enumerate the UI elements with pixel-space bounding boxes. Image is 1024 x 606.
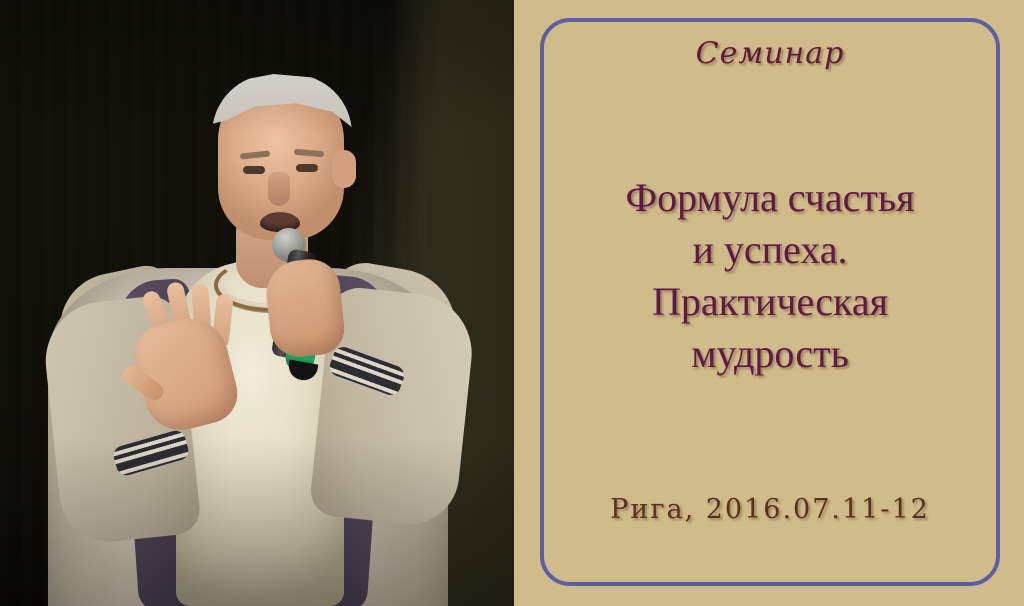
- headline-line-1: Формула счастья: [540, 172, 1000, 224]
- headline-line-2: и успеха.: [540, 224, 1000, 276]
- seminar-poster: Семинар Формула счастья и успеха. Практи…: [0, 0, 1024, 606]
- event-type-label: Семинар: [540, 36, 1000, 71]
- speaker-figure: [0, 0, 514, 606]
- eye-right: [296, 164, 318, 172]
- location-and-date: Рига, 2016.07.11-12: [540, 494, 1000, 525]
- ear: [332, 150, 356, 188]
- page-title: Формула счастья и успеха. Практическая м…: [540, 172, 1000, 380]
- headline-line-3: Практическая: [540, 276, 1000, 328]
- text-panel: Семинар Формула счастья и успеха. Практи…: [514, 0, 1024, 606]
- speaker-photo: [0, 0, 514, 606]
- hand-holding-microphone: [263, 256, 347, 359]
- headline-line-4: мудрость: [540, 328, 1000, 380]
- nose: [268, 172, 290, 206]
- eye-left: [243, 166, 265, 174]
